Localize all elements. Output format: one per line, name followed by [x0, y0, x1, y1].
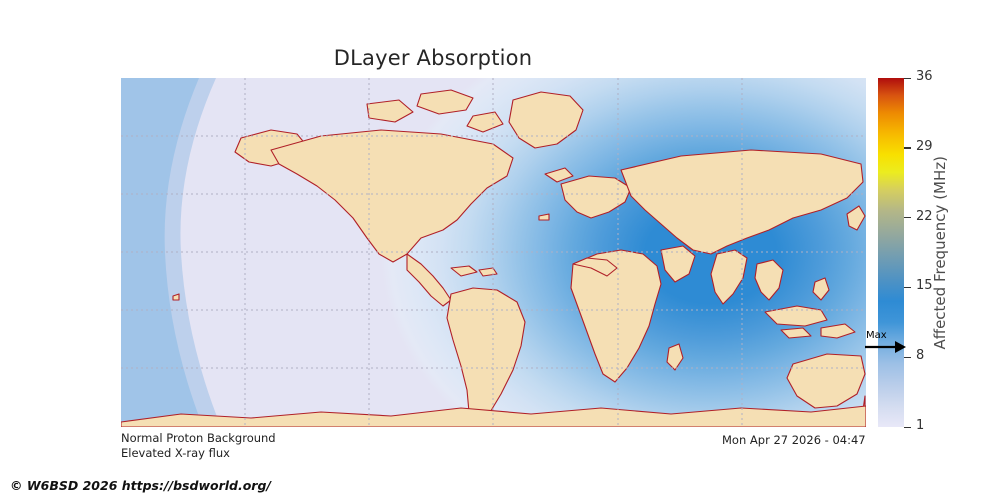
max-marker: Max — [862, 330, 908, 356]
tick-mark — [904, 78, 911, 79]
world-map[interactable] — [121, 78, 866, 427]
timestamp: Mon Apr 27 2026 - 04:47 — [722, 433, 866, 447]
tick-label: 1 — [916, 418, 924, 433]
max-label: Max — [866, 330, 887, 341]
dlayer-absorption-page: DLayer Absorption — [0, 0, 1000, 500]
tick-mark — [904, 217, 911, 218]
tick-mark — [904, 287, 911, 288]
colorbar-gradient — [878, 78, 904, 427]
annotation-xray-flux: Elevated X-ray flux — [121, 446, 230, 460]
tick-mark — [904, 357, 911, 358]
page-title: DLayer Absorption — [0, 46, 866, 70]
tick-mark — [904, 427, 911, 428]
tick-label: 8 — [916, 348, 924, 363]
map-canvas — [121, 78, 866, 427]
tick-mark — [904, 147, 911, 148]
colorbar-axis-label: Affected Frequency (MHz) — [926, 78, 954, 427]
copyright-footer: © W6BSD 2026 https://bsdworld.org/ — [10, 478, 271, 493]
annotation-proton-background: Normal Proton Background — [121, 431, 276, 445]
colorbar[interactable] — [878, 78, 904, 427]
